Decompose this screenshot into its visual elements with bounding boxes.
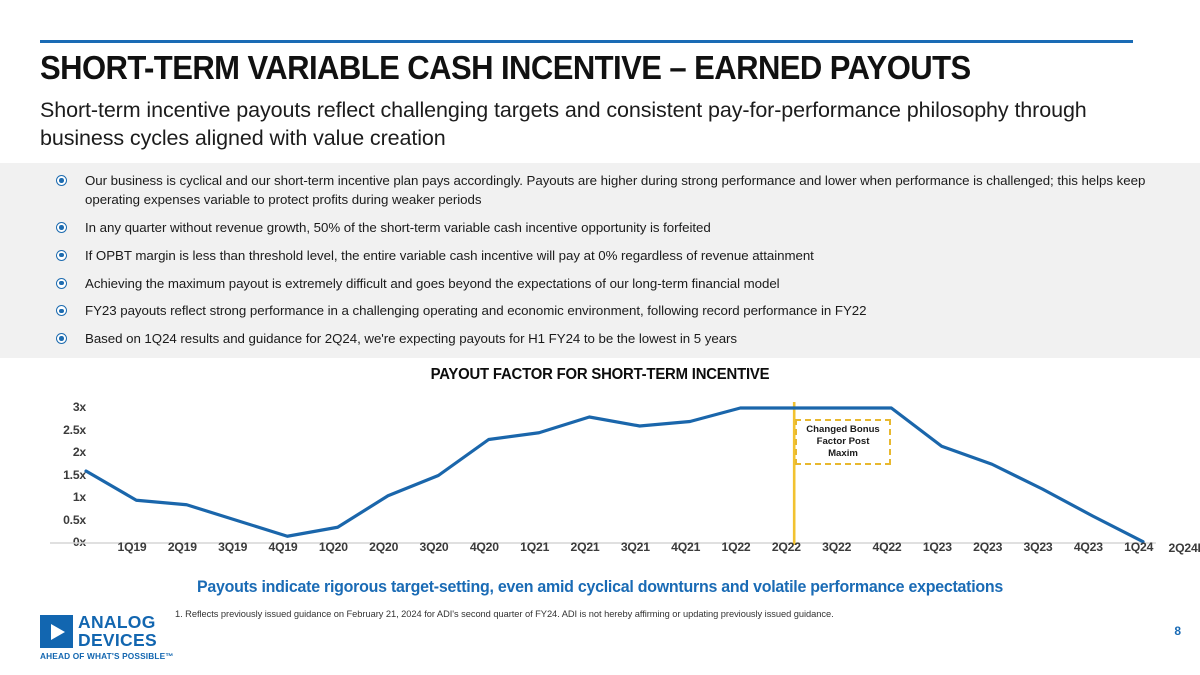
list-item-label: FY23 payouts reflect strong performance … [85,302,866,321]
x-axis-tick-label: 1Q24 [1124,540,1153,554]
adi-wordmark-line2: DEVICES [78,631,157,649]
x-axis-tick-label: 1Q23 [923,540,952,554]
bullet-point-icon [56,222,67,233]
page-number: 8 [1174,624,1181,638]
list-item-label: In any quarter without revenue growth, 5… [85,219,711,238]
payout-factor-line-chart [40,396,1160,556]
footer-callout: Payouts indicate rigorous target-setting… [12,578,1188,597]
x-axis-tick-label: 2Q24E1 [1169,540,1200,555]
list-item: Our business is cyclical and our short-t… [56,172,1176,210]
x-axis-tick-label: 3Q21 [621,540,650,554]
page-subtitle: Short-term incentive payouts reflect cha… [40,97,1110,152]
page-title: SHORT-TERM VARIABLE CASH INCENTIVE – EAR… [40,50,1093,87]
footnote: 1. Reflects previously issued guidance o… [175,609,1135,619]
list-item-label: Our business is cyclical and our short-t… [85,172,1176,210]
x-axis-tick-label: 1Q19 [117,540,146,554]
x-axis-tick-label: 4Q19 [268,540,297,554]
chart-title: PAYOUT FACTOR FOR SHORT-TERM INCENTIVE [24,366,1176,384]
adi-wordmark: ANALOG DEVICES [78,613,157,649]
x-axis-tick-label: 3Q23 [1023,540,1052,554]
x-axis-tick-label: 4Q22 [872,540,901,554]
annotation-line: Maxim [806,448,880,460]
adi-tagline: AHEAD OF WHAT'S POSSIBLE™ [40,651,174,661]
x-axis-tick-label: 3Q19 [218,540,247,554]
list-item-label: If OPBT margin is less than threshold le… [85,247,814,266]
analog-devices-logo: ANALOG DEVICES AHEAD OF WHAT'S POSSIBLE™ [40,613,205,661]
x-axis-tick-label: 4Q23 [1074,540,1103,554]
list-item: FY23 payouts reflect strong performance … [56,302,1176,321]
list-item: If OPBT margin is less than threshold le… [56,247,1176,266]
header-rule [40,40,1133,43]
list-item-label: Based on 1Q24 results and guidance for 2… [85,330,737,349]
x-axis-tick-label: 1Q20 [319,540,348,554]
chart-series-line [86,408,1143,542]
list-item: Based on 1Q24 results and guidance for 2… [56,330,1176,349]
x-axis-tick-label: 2Q20 [369,540,398,554]
bullet-list: Our business is cyclical and our short-t… [56,172,1176,358]
x-axis-tick-label: 4Q20 [470,540,499,554]
bullet-point-icon [56,305,67,316]
list-item-label: Achieving the maximum payout is extremel… [85,275,780,294]
x-axis-tick-label: 4Q21 [671,540,700,554]
adi-triangle-icon [40,615,73,648]
x-axis-tick-label: 2Q19 [168,540,197,554]
x-axis-tick-label: 3Q20 [419,540,448,554]
bullet-point-icon [56,333,67,344]
chart-annotation-changed-bonus-factor: Changed BonusFactor PostMaxim [795,419,891,465]
adi-wordmark-line1: ANALOG [78,613,157,631]
chart-x-axis: 1Q192Q193Q194Q191Q202Q203Q204Q201Q212Q21… [86,540,1166,562]
bullet-point-icon [56,278,67,289]
chart-svg [40,396,1160,556]
list-item: In any quarter without revenue growth, 5… [56,219,1176,238]
x-axis-tick-label: 1Q22 [721,540,750,554]
x-axis-tick-label: 2Q23 [973,540,1002,554]
x-axis-tick-label: 2Q22 [772,540,801,554]
annotation-line: Changed Bonus [806,424,880,436]
x-axis-tick-label: 2Q21 [570,540,599,554]
bullet-point-icon [56,175,67,186]
bullet-point-icon [56,250,67,261]
x-axis-tick-label: 1Q21 [520,540,549,554]
x-axis-tick-label: 3Q22 [822,540,851,554]
annotation-line: Factor Post [806,436,880,448]
list-item: Achieving the maximum payout is extremel… [56,275,1176,294]
